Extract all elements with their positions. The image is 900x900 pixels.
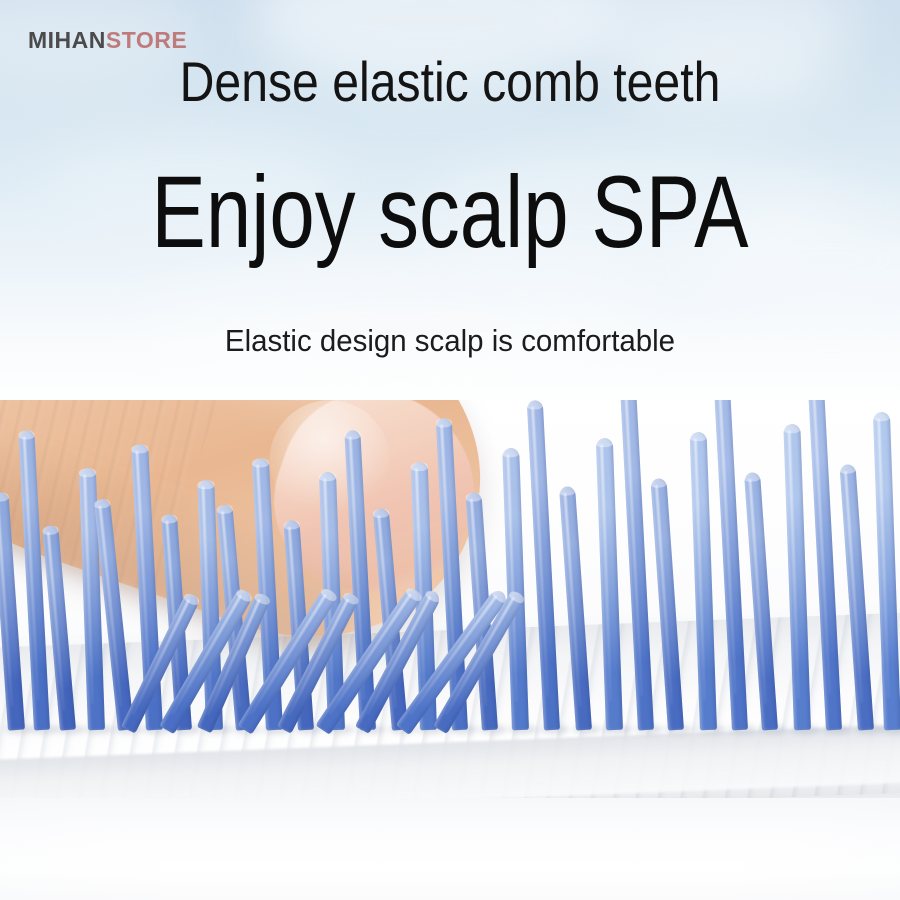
bristle-tip [131,444,148,454]
bristle-tip [783,424,800,434]
brand-logo: MIHANSTORE [28,27,187,54]
bristle-tip [94,498,111,509]
bristle-tip [436,418,452,428]
bristle-tip [42,525,59,535]
bristle-tip [465,492,482,502]
bristle-tip [216,504,233,514]
bristle-tip [596,438,613,448]
headline-secondary: Enjoy scalp SPA [90,160,810,264]
bristle-tip [744,472,761,482]
brand-name-primary: MIHAN [28,27,106,53]
bristle-tip [161,514,178,524]
product-photo [0,400,900,900]
bristle-tip [373,508,390,518]
bristle-tip [79,468,96,478]
bristle-tip [502,448,519,458]
product-banner: MIHANSTORE Dense elastic comb teeth Enjo… [0,0,900,900]
bristle-tip [650,478,667,488]
comb-base-front [0,798,900,900]
bristle-tip [411,462,428,472]
bristle-tip [0,492,9,502]
bristle-tip [527,400,543,410]
bristle-tip [559,486,576,496]
bristle-tip [839,464,856,474]
bristle-tip [873,412,890,422]
bristle-tip [319,472,336,482]
bristle-tip [690,432,707,442]
brand-name-secondary: STORE [106,27,187,53]
bristle-tip [197,480,214,490]
headline-primary: Dense elastic comb teeth [63,52,837,112]
bristle-tip [283,520,300,530]
bristle-tip [344,430,360,440]
bristle-tip [252,458,269,468]
bristle-tip [18,430,34,440]
subtitle: Elastic design scalp is comfortable [23,324,878,358]
